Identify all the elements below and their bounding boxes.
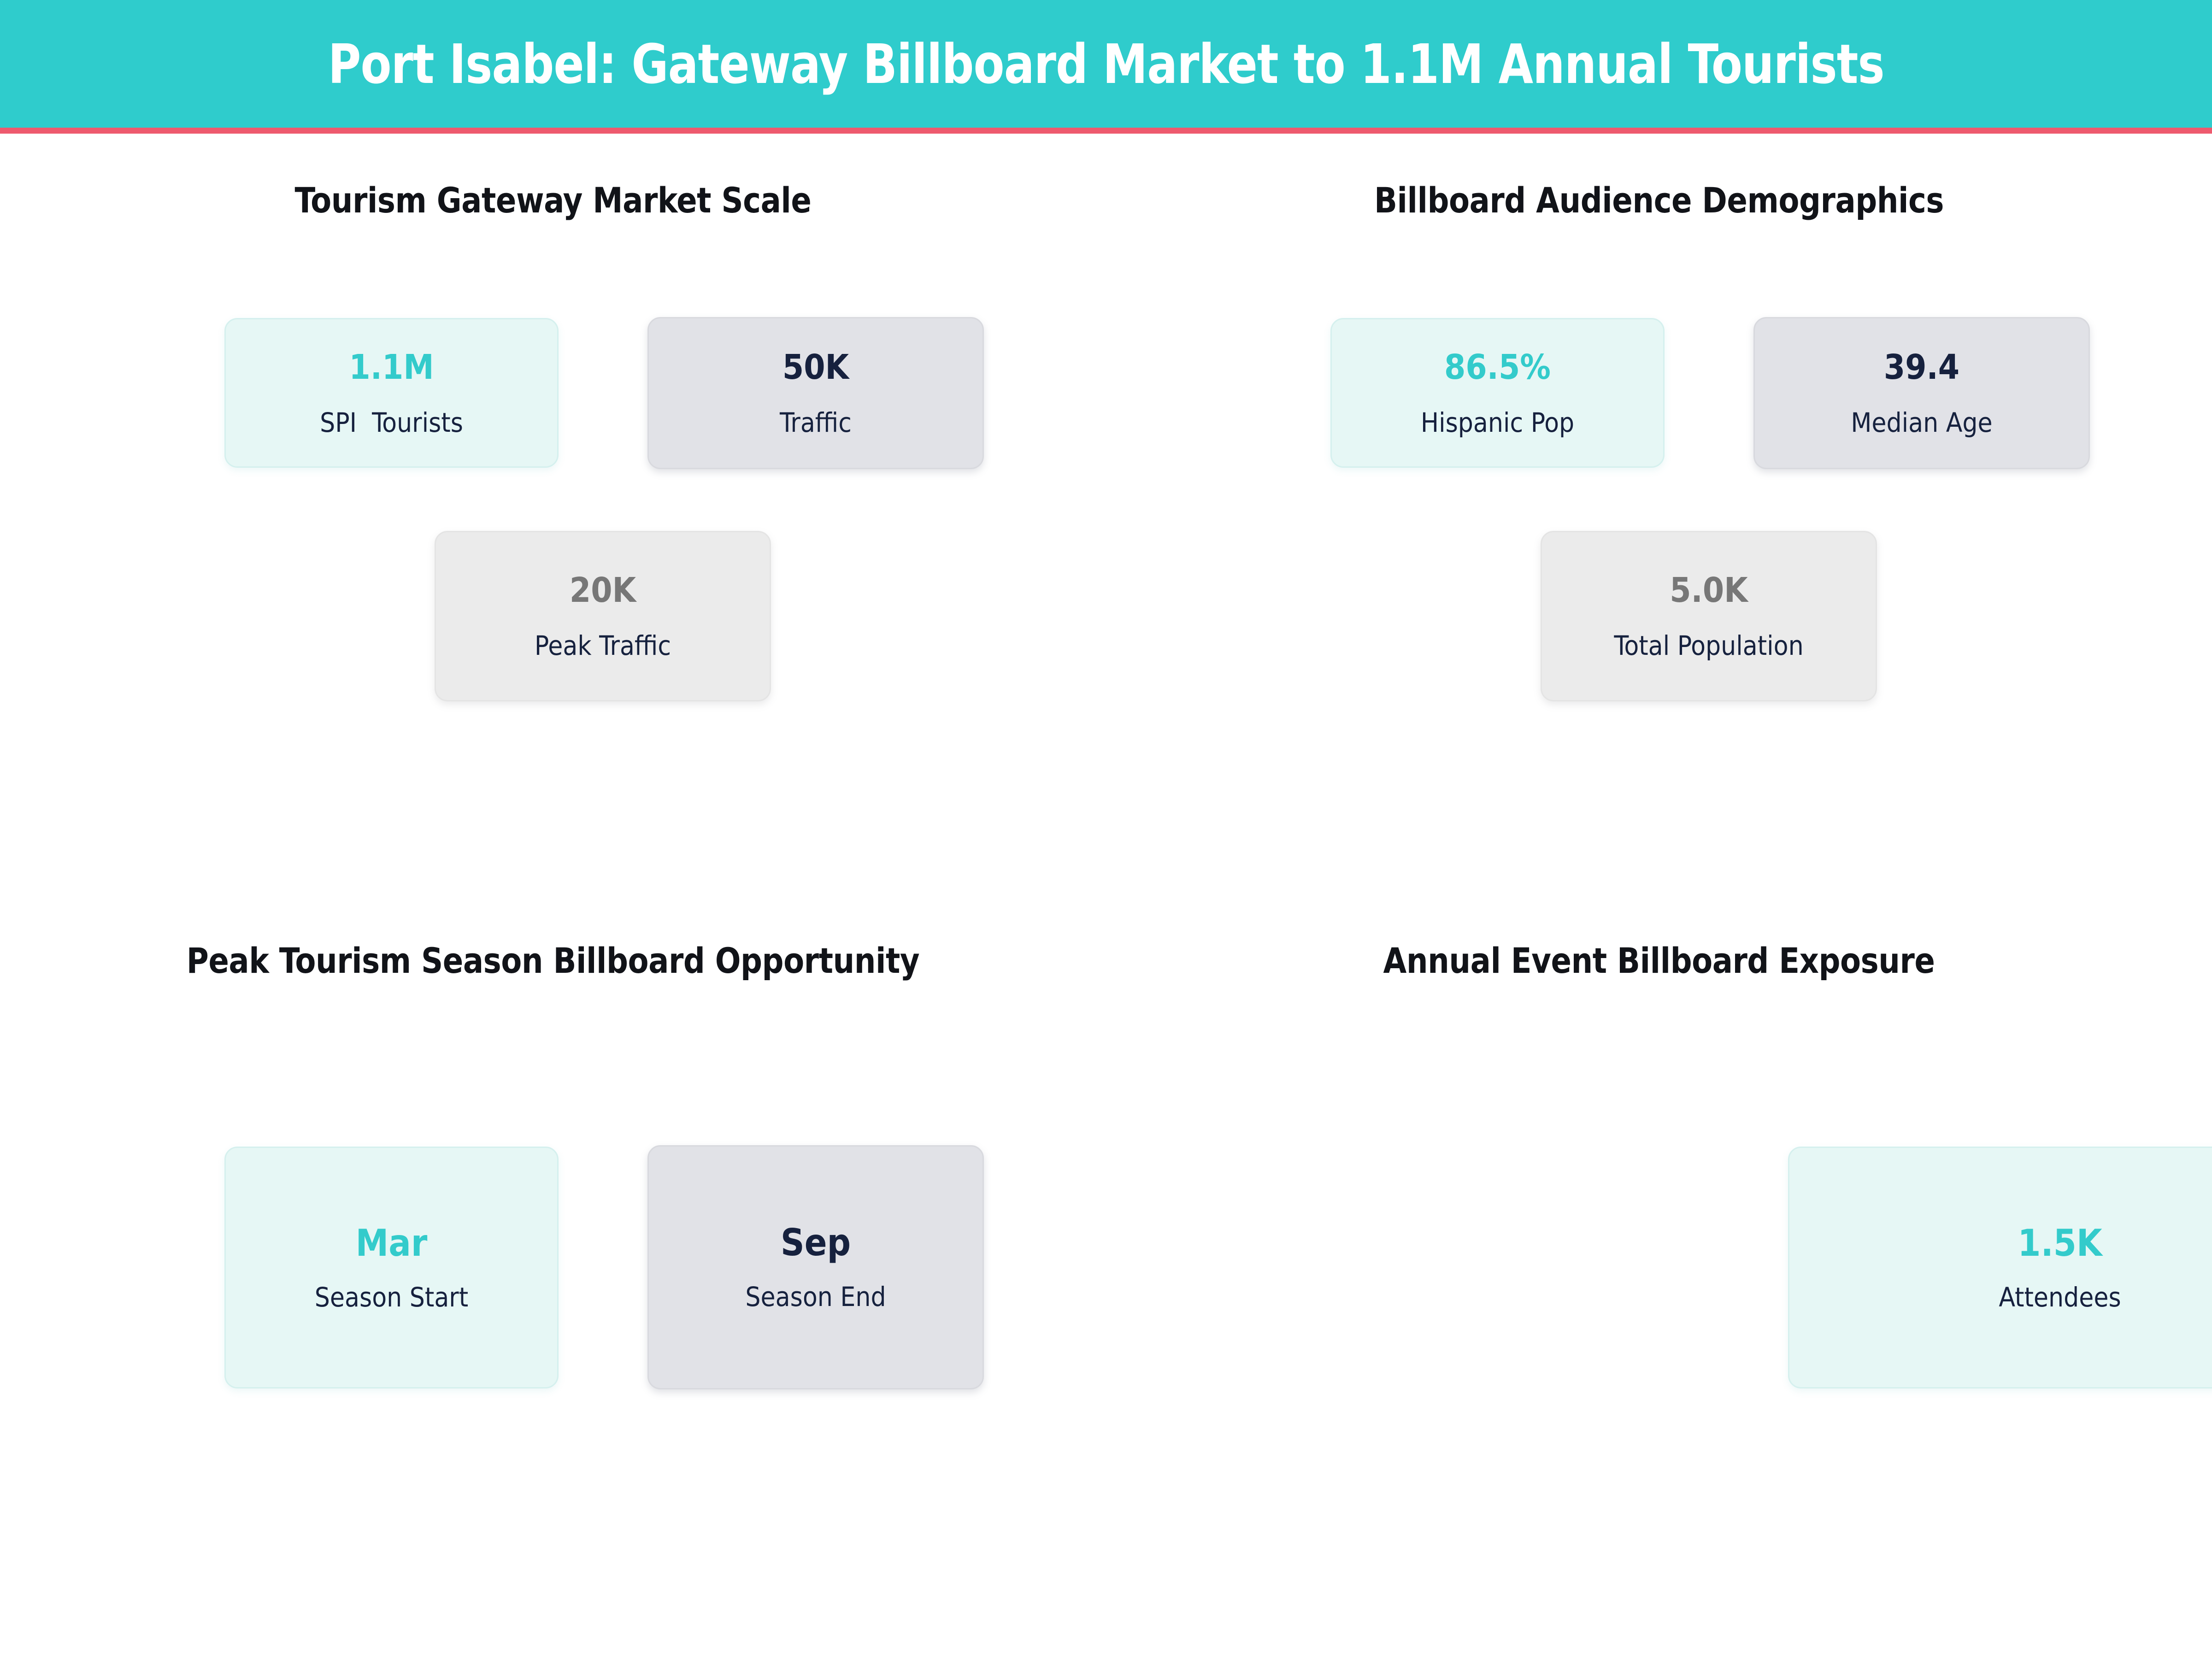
panel-title: Billboard Audience Demographics: [1128, 180, 2190, 221]
kpi-card-traffic[interactable]: 50K Traffic: [647, 317, 984, 469]
kpi-card-spi-tourists[interactable]: 1.1M SPI Tourists: [224, 318, 559, 468]
panel-billboard-audience-demographics: Billboard Audience Demographics 86.5% Hi…: [1106, 134, 2212, 894]
kpi-card-median-age[interactable]: 39.4 Median Age: [1753, 317, 2090, 469]
header-accent-stripe: [0, 128, 2212, 134]
kpi-value: 20K: [570, 573, 636, 607]
panel-title: Tourism Gateway Market Scale: [22, 180, 1084, 221]
kpi-card-hispanic-pop[interactable]: 86.5% Hispanic Pop: [1330, 318, 1665, 468]
kpi-value: 39.4: [1884, 350, 1959, 384]
kpi-label: Attendees: [1999, 1284, 2121, 1311]
kpi-label: SPI Tourists: [320, 409, 463, 436]
panel-tourism-gateway-market-scale: Tourism Gateway Market Scale 1.1M SPI To…: [0, 134, 1106, 894]
kpi-card-peak-traffic[interactable]: 20K Peak Traffic: [435, 531, 771, 701]
kpi-value: Mar: [356, 1225, 428, 1262]
kpi-label: Traffic: [780, 409, 852, 436]
kpi-label: Season Start: [315, 1284, 468, 1311]
kpi-card-season-start[interactable]: Mar Season Start: [224, 1147, 559, 1388]
kpi-label: Hispanic Pop: [1421, 409, 1574, 436]
kpi-value: 86.5%: [1444, 350, 1551, 384]
kpi-label: Total Population: [1614, 632, 1803, 659]
panel-title: Peak Tourism Season Billboard Opportunit…: [22, 940, 1084, 981]
kpi-value: 5.0K: [1670, 573, 1748, 607]
kpi-label: Median Age: [1851, 409, 1992, 436]
header-band: Port Isabel: Gateway Billboard Market to…: [0, 0, 2212, 128]
kpi-value: 1.1M: [349, 350, 434, 384]
page-title: Port Isabel: Gateway Billboard Market to…: [328, 37, 1884, 91]
panel-annual-event-billboard-exposure: Annual Event Billboard Exposure 1.5K Att…: [1106, 894, 2212, 1659]
panel-title: Annual Event Billboard Exposure: [1128, 940, 2190, 981]
kpi-value: 1.5K: [2018, 1225, 2102, 1262]
panel-peak-tourism-season-billboard-opportunity: Peak Tourism Season Billboard Opportunit…: [0, 894, 1106, 1659]
kpi-label: Season End: [745, 1283, 886, 1310]
kpi-card-season-end[interactable]: Sep Season End: [647, 1145, 984, 1389]
kpi-card-total-population[interactable]: 5.0K Total Population: [1541, 531, 1877, 701]
kpi-value: Sep: [781, 1224, 851, 1261]
kpi-value: 50K: [782, 350, 849, 384]
kpi-label: Peak Traffic: [535, 632, 671, 659]
kpi-card-attendees[interactable]: 1.5K Attendees: [1788, 1147, 2212, 1388]
